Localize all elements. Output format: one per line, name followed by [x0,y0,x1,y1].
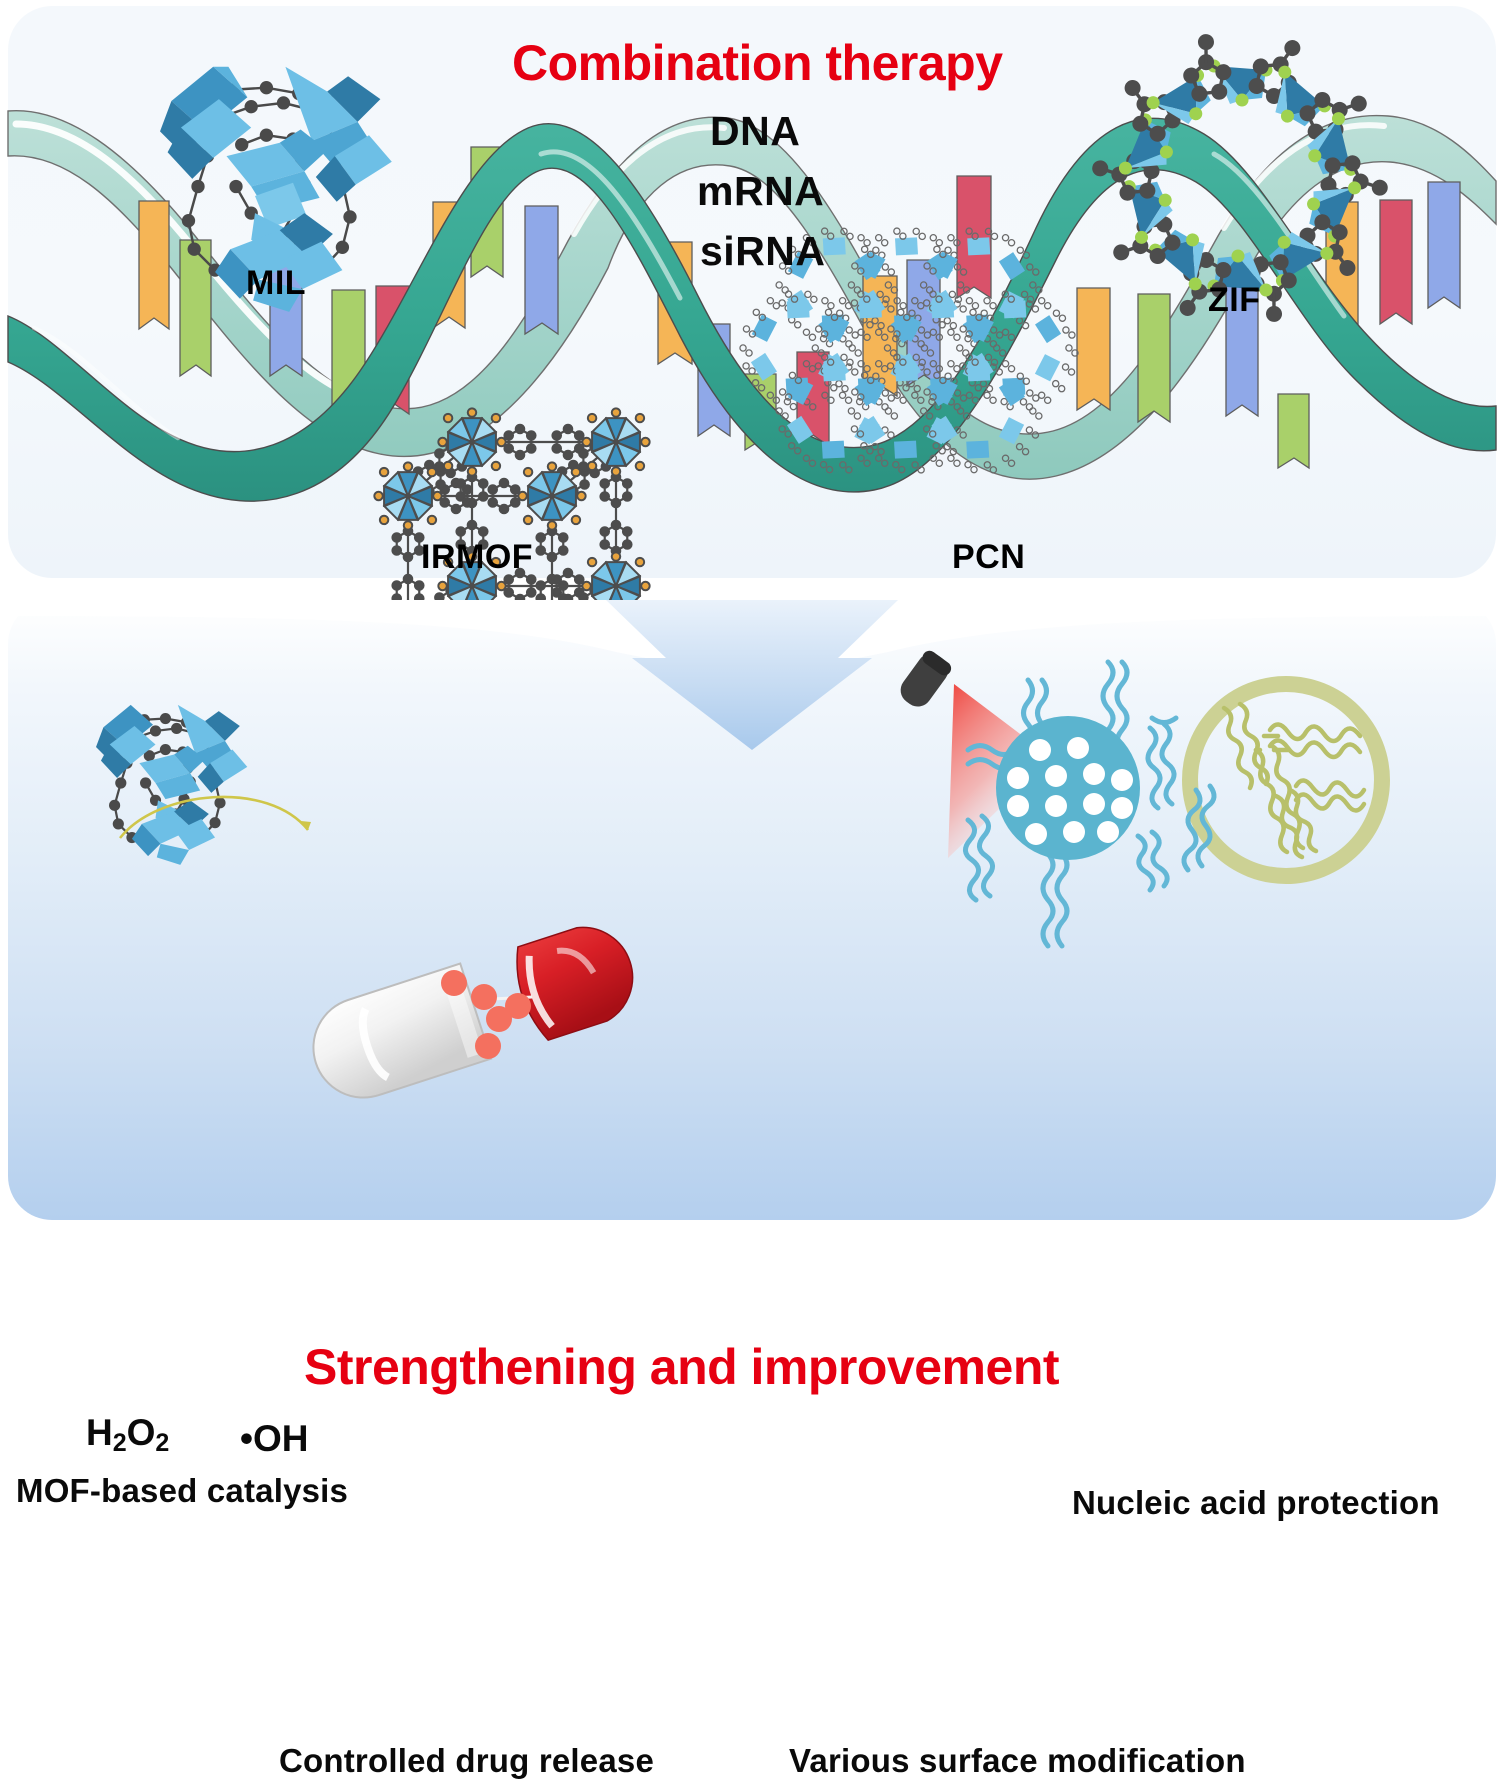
mof-label-irmof: IRMOF [421,538,533,577]
mof-label-mil: MIL [246,264,306,303]
surface-modification-icon [8,600,1496,1220]
chem-label-h2o2: H2O2 [86,1412,169,1458]
mof-label-pcn: PCN [952,538,1025,577]
cargo-label-dna: DNA [710,108,800,155]
feature-label-surface-modification: Various surface modification [789,1742,1246,1780]
cargo-label-sirna: siRNA [700,228,826,275]
page-title-combination-therapy: Combination therapy [512,34,1003,92]
top-panel-combination-therapy: Combination therapy DNA mRNA siRNA MIL I… [8,6,1496,578]
feature-label-controlled-drug-release: Controlled drug release [279,1742,654,1780]
figure-canvas: Combination therapy DNA mRNA siRNA MIL I… [0,0,1504,1226]
feature-label-catalysis: MOF-based catalysis [16,1472,348,1510]
page-title-strengthening: Strengthening and improvement [304,1338,1059,1396]
chem-label-hydroxyl-radical: •OH [240,1418,308,1460]
mof-label-zif: ZIF [1208,281,1260,320]
cargo-label-mrna: mRNA [697,168,824,215]
feature-label-nucleic-acid-protection: Nucleic acid protection [1072,1484,1440,1522]
bottom-panel-strengthening: Strengthening and improvement H2O2 •OH M… [8,600,1496,1220]
